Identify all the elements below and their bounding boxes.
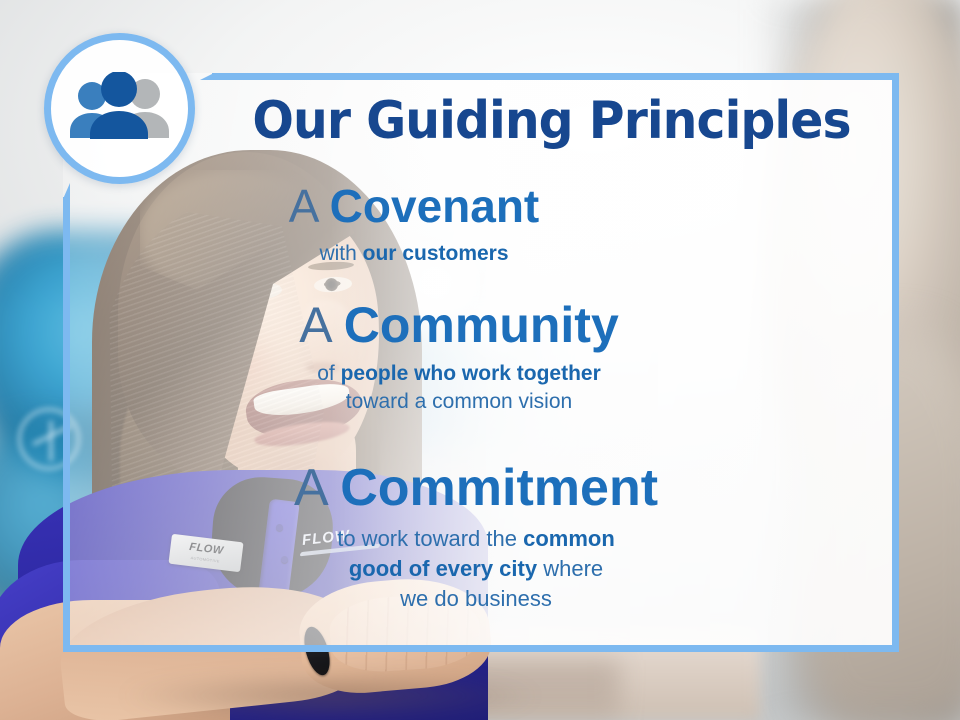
principle-community-heading: A Community <box>63 299 855 351</box>
page-title: Our Guiding Principles <box>88 95 874 147</box>
principle-community-word: Community <box>344 297 619 353</box>
principle-covenant-subtext: with our customers <box>63 240 765 268</box>
principle-commitment-sub-bold1: common <box>523 526 615 551</box>
principle-covenant-sub-bold: our customers <box>363 242 509 265</box>
principle-commitment-article: A <box>294 459 326 517</box>
principle-commitment-sub-plain1: to work toward the <box>337 526 523 551</box>
banner-stage: FLOW AUTOMOTIVE FLOW <box>0 0 960 720</box>
principle-community-article: A <box>299 297 330 353</box>
principle-commitment-word: Commitment <box>340 459 658 517</box>
principle-community-sub-bold: people who work together <box>341 362 601 385</box>
principle-community: A Community of people who work togethert… <box>63 299 899 415</box>
banner-content: Our Guiding Principles A Covenant with o… <box>63 73 899 649</box>
principle-community-sub-plain: of <box>317 362 340 385</box>
principle-commitment-sub-bold2: good of every city <box>349 556 537 581</box>
subject-contact-shadow <box>120 672 540 720</box>
principle-commitment-sub-line3: we do business <box>400 586 552 611</box>
principle-commitment-sub-plain2: where <box>537 556 603 581</box>
principle-covenant-article: A <box>289 180 317 232</box>
principle-covenant: A Covenant with our customers <box>63 183 899 268</box>
principle-commitment-subtext: to work toward the commongood of every c… <box>63 524 889 614</box>
principle-covenant-word: Covenant <box>330 180 540 232</box>
principle-covenant-sub-plain: with <box>319 242 362 265</box>
principle-community-sub-line2: toward a common vision <box>346 390 572 413</box>
principle-community-subtext: of people who work togethertoward a comm… <box>63 360 855 415</box>
principle-covenant-heading: A Covenant <box>63 183 765 231</box>
principle-commitment: A Commitment to work toward the commongo… <box>63 461 899 614</box>
principle-commitment-heading: A Commitment <box>63 461 889 515</box>
